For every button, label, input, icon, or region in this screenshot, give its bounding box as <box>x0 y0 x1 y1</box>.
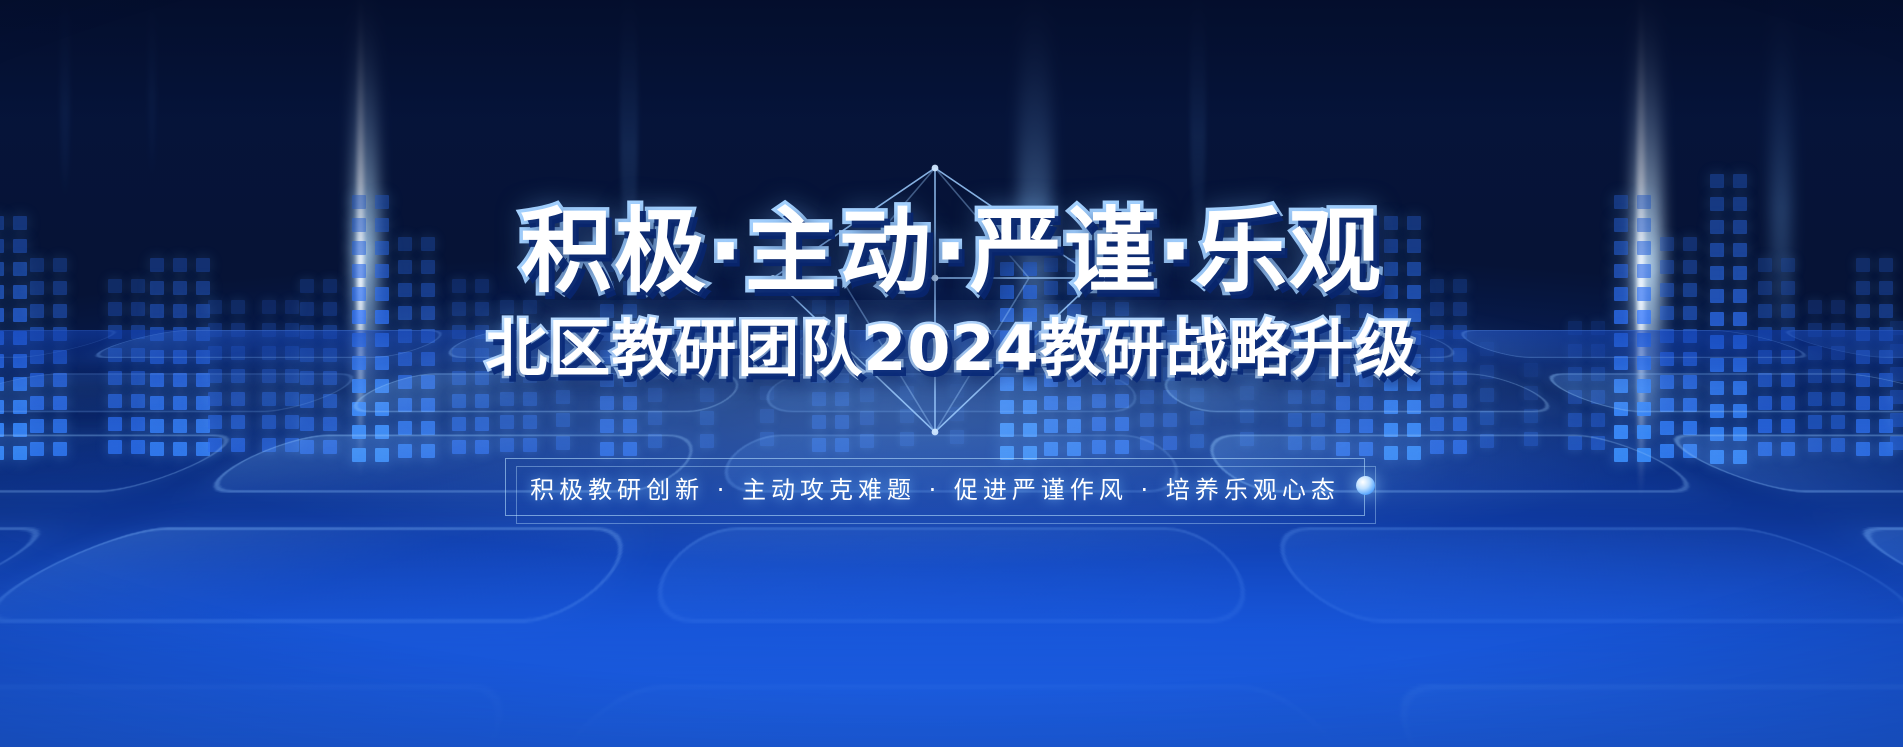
light-beam <box>148 0 156 180</box>
tagline-frame: 积极教研创新 · 主动攻克难题 · 促进严谨作风 · 培养乐观心态 <box>505 458 1365 516</box>
page-title: 积极·主动·严谨·乐观 <box>0 206 1903 298</box>
floor-tile <box>1366 684 1903 747</box>
tagline-text: 积极教研创新 · 主动攻克难题 · 促进严谨作风 · 培养乐观心态 <box>505 458 1365 516</box>
banner-canvas: 积极·主动·严谨·乐观 北区教研团队2024教研战略升级 积极教研创新 · 主动… <box>0 0 1903 747</box>
light-beam <box>60 0 70 200</box>
floor-tile <box>634 527 1269 623</box>
glow-dot-icon <box>1356 476 1375 495</box>
floor-tile <box>490 684 1414 747</box>
floor-tile <box>0 527 644 623</box>
page-subtitle: 北区教研团队2024教研战略升级 <box>0 318 1903 380</box>
light-beam <box>1770 0 1792 360</box>
floor-tile <box>1259 527 1903 623</box>
floor-tile <box>0 684 537 747</box>
